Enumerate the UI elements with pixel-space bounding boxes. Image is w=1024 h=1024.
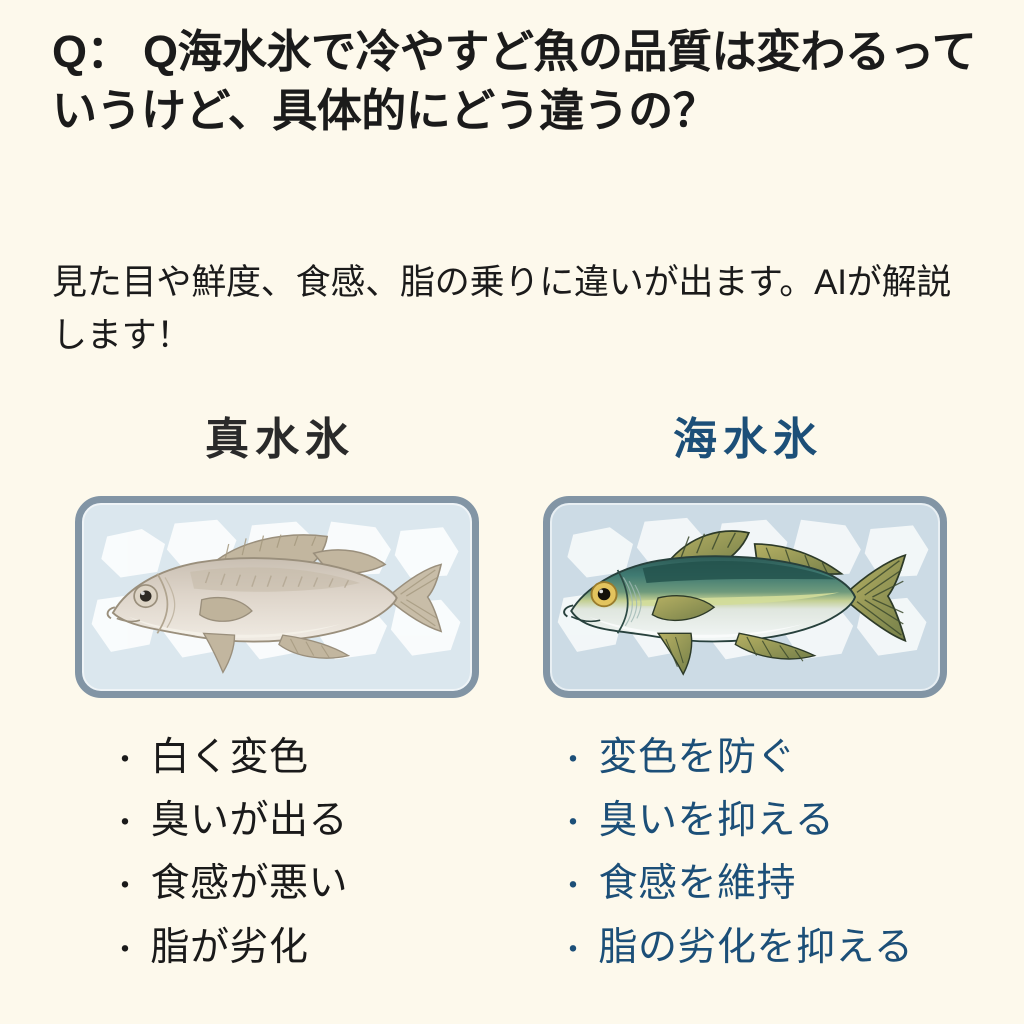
column-title-freshwater-ice: 真水氷 [42, 418, 512, 480]
fresh-fish-on-ice-illustration [550, 503, 940, 691]
column-title-seawater-ice: 海水氷 [510, 418, 980, 480]
ice-tray-seawater [543, 496, 947, 698]
list-item: ・ 白く変色 [110, 726, 512, 789]
infographic-page: Q： Q海水氷で冷やすど魚の品質は変わるっていうけど、具体的にどう違うの？ 見た… [0, 0, 1024, 1024]
list-item: ・ 脂が劣化 [110, 916, 512, 979]
list-item: ・ 食感が悪い [110, 852, 512, 915]
list-item: ・ 脂の劣化を抑える [558, 916, 980, 979]
comparison-column-freshwater-ice: 真水氷 [42, 418, 512, 979]
list-item: ・ 臭いが出る [110, 789, 512, 852]
bullet-marker-icon: ・ [110, 809, 141, 839]
bullet-marker-icon: ・ [558, 936, 589, 966]
list-item-label: 臭いを抑える [599, 789, 835, 852]
list-item: ・ 食感を維持 [558, 852, 980, 915]
list-item-label: 脂が劣化 [151, 916, 309, 979]
list-item: ・ 変色を防ぐ [558, 726, 980, 789]
comparison-column-seawater-ice: 海水氷 [510, 418, 980, 979]
bullet-marker-icon: ・ [558, 746, 589, 776]
answer-lead-text: 見た目や鮮度、食感、脂の乗りに違いが出ます。AIが解説します！ [52, 256, 982, 362]
list-item-label: 白く変色 [151, 726, 309, 789]
benefit-list-freshwater: ・ 白く変色 ・ 臭いが出る ・ 食感が悪い ・ 脂が劣化 [42, 726, 512, 979]
bullet-marker-icon: ・ [558, 872, 589, 902]
question-heading: Q： Q海水氷で冷やすど魚の品質は変わるっていうけど、具体的にどう違うの？ [52, 22, 982, 141]
list-item-label: 食感を維持 [599, 852, 797, 915]
list-item-label: 臭いが出る [151, 789, 349, 852]
ice-tray-freshwater [75, 496, 479, 698]
bullet-marker-icon: ・ [110, 936, 141, 966]
list-item-label: 変色を防ぐ [599, 726, 797, 789]
pale-fish-on-ice-illustration [82, 503, 472, 691]
list-item-label: 食感が悪い [151, 852, 349, 915]
benefit-list-seawater: ・ 変色を防ぐ ・ 臭いを抑える ・ 食感を維持 ・ 脂の劣化を抑える [510, 726, 980, 979]
bullet-marker-icon: ・ [558, 809, 589, 839]
list-item: ・ 臭いを抑える [558, 789, 980, 852]
bullet-marker-icon: ・ [110, 872, 141, 902]
bullet-marker-icon: ・ [110, 746, 141, 776]
comparison-columns: 真水氷 [0, 418, 1024, 1024]
list-item-label: 脂の劣化を抑える [599, 916, 914, 979]
